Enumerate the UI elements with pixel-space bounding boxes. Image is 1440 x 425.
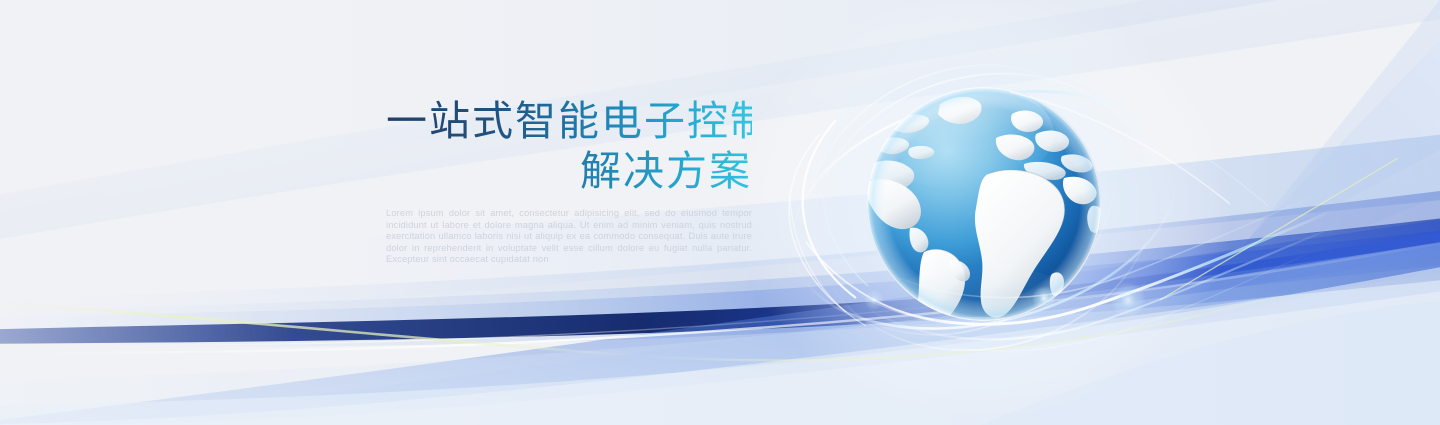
headline-line-2: 解决方案 [386, 146, 752, 196]
globe-illustration [866, 78, 1102, 331]
headline-text-block: 一站式智能电子控制 解决方案 Lorem ipsum dolor sit ame… [386, 96, 752, 275]
lorem-paragraph: Lorem ipsum dolor sit amet, consectetur … [386, 208, 752, 266]
headline-line-1: 一站式智能电子控制 [386, 96, 752, 146]
marketing-banner: 一站式智能电子控制 解决方案 Lorem ipsum dolor sit ame… [0, 0, 1440, 425]
